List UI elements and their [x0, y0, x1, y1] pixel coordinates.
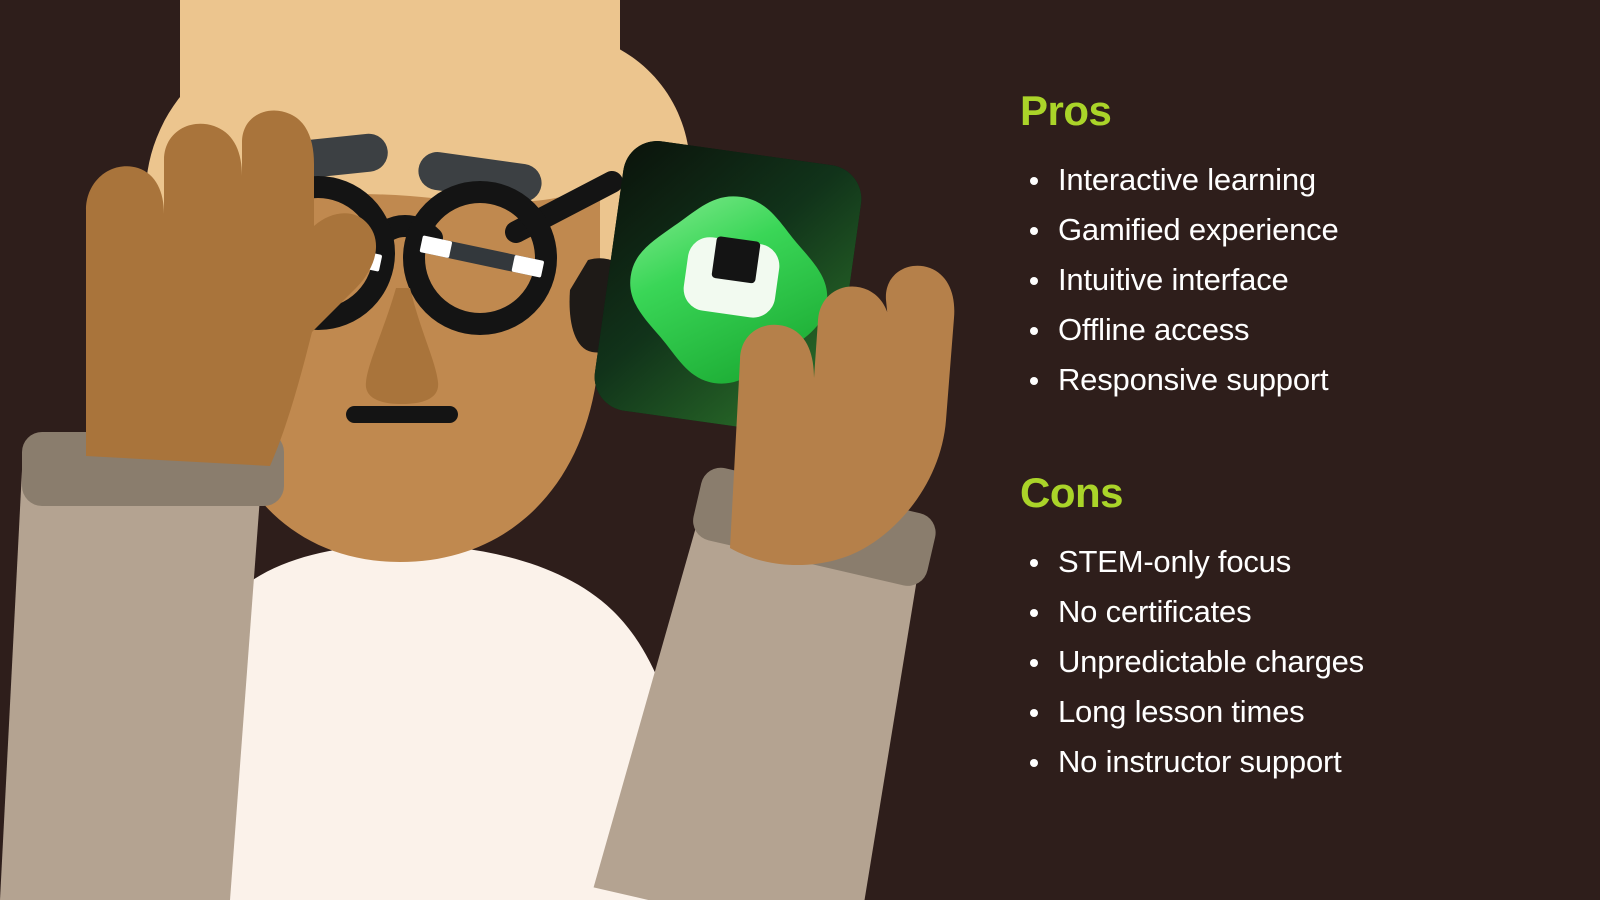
bullet-dot-icon	[1030, 759, 1038, 767]
slide-root: Pros Interactive learning Gamified exper…	[0, 0, 1600, 900]
list-item-label: Intuitive interface	[1058, 262, 1289, 297]
bullet-dot-icon	[1030, 377, 1038, 385]
pros-heading: Pros	[1020, 90, 1111, 132]
list-item: Gamified experience	[1020, 205, 1339, 255]
bullet-dot-icon	[1030, 277, 1038, 285]
list-item: Interactive learning	[1020, 155, 1339, 205]
list-item: Intuitive interface	[1020, 255, 1339, 305]
list-item-label: Offline access	[1058, 312, 1249, 347]
list-item-label: Responsive support	[1058, 362, 1328, 397]
bullet-dot-icon	[1030, 659, 1038, 667]
list-item: No certificates	[1020, 587, 1364, 637]
list-item: STEM-only focus	[1020, 537, 1364, 587]
app-logo-black-square	[711, 236, 760, 284]
list-item-label: Gamified experience	[1058, 212, 1339, 247]
bullet-dot-icon	[1030, 177, 1038, 185]
cons-list: STEM-only focus No certificates Unpredic…	[1020, 537, 1364, 787]
bullet-dot-icon	[1030, 227, 1038, 235]
list-item-label: STEM-only focus	[1058, 544, 1291, 579]
list-item-label: Long lesson times	[1058, 694, 1304, 729]
bullet-dot-icon	[1030, 609, 1038, 617]
sleeve-left	[0, 470, 262, 900]
person-holding-phone-illustration	[0, 0, 1000, 900]
pros-cons-panel: Pros Interactive learning Gamified exper…	[1020, 0, 1580, 900]
list-item: Unpredictable charges	[1020, 637, 1364, 687]
bullet-dot-icon	[1030, 709, 1038, 717]
list-item-label: Unpredictable charges	[1058, 644, 1364, 679]
cons-heading: Cons	[1020, 472, 1123, 514]
mouth	[346, 406, 458, 423]
list-item-label: No instructor support	[1058, 744, 1342, 779]
list-item: Offline access	[1020, 305, 1339, 355]
list-item: Responsive support	[1020, 355, 1339, 405]
pros-list: Interactive learning Gamified experience…	[1020, 155, 1339, 405]
list-item-label: No certificates	[1058, 594, 1251, 629]
list-item: No instructor support	[1020, 737, 1364, 787]
list-item-label: Interactive learning	[1058, 162, 1316, 197]
list-item: Long lesson times	[1020, 687, 1364, 737]
bullet-dot-icon	[1030, 327, 1038, 335]
bullet-dot-icon	[1030, 559, 1038, 567]
